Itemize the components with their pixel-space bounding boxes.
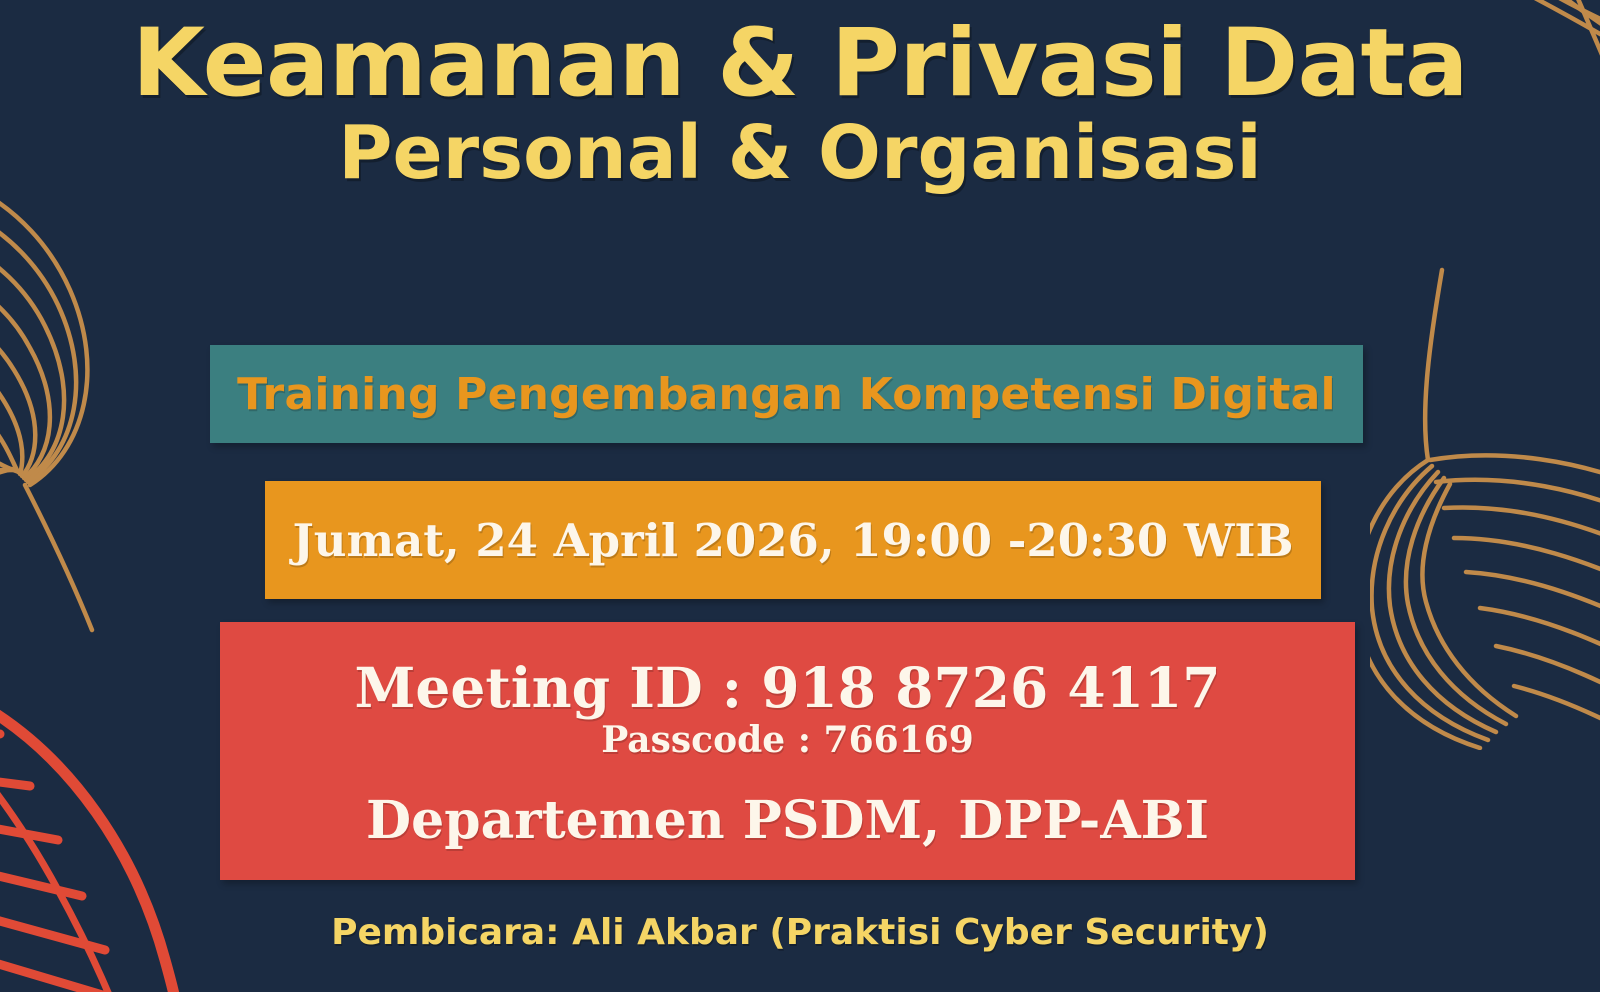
- meeting-id-text: Meeting ID : 918 8726 4117: [354, 659, 1220, 717]
- passcode-text: Passcode : 766169: [601, 719, 974, 763]
- datetime-banner: Jumat, 24 April 2026, 19:00 -20:30 WIB: [265, 481, 1321, 599]
- title-line-2: Personal & Organisasi: [0, 112, 1600, 195]
- datetime-banner-text: Jumat, 24 April 2026, 19:00 -20:30 WIB: [292, 514, 1293, 567]
- poster-title: Keamanan & Privasi Data Personal & Organ…: [0, 16, 1600, 195]
- title-line-1: Keamanan & Privasi Data: [0, 16, 1600, 112]
- topic-banner: Training Pengembangan Kompetensi Digital: [210, 345, 1363, 443]
- meeting-info-banner: Meeting ID : 918 8726 4117 Passcode : 76…: [220, 622, 1355, 880]
- department-text: Departemen PSDM, DPP-ABI: [366, 793, 1209, 849]
- leaf-line-art-top-left-icon: [0, 130, 220, 650]
- topic-banner-text: Training Pengembangan Kompetensi Digital: [237, 369, 1336, 420]
- event-poster: Keamanan & Privasi Data Personal & Organ…: [0, 0, 1600, 992]
- leaf-line-art-right-icon: [1370, 130, 1600, 750]
- speaker-text: Pembicara: Ali Akbar (Praktisi Cyber Sec…: [0, 912, 1600, 953]
